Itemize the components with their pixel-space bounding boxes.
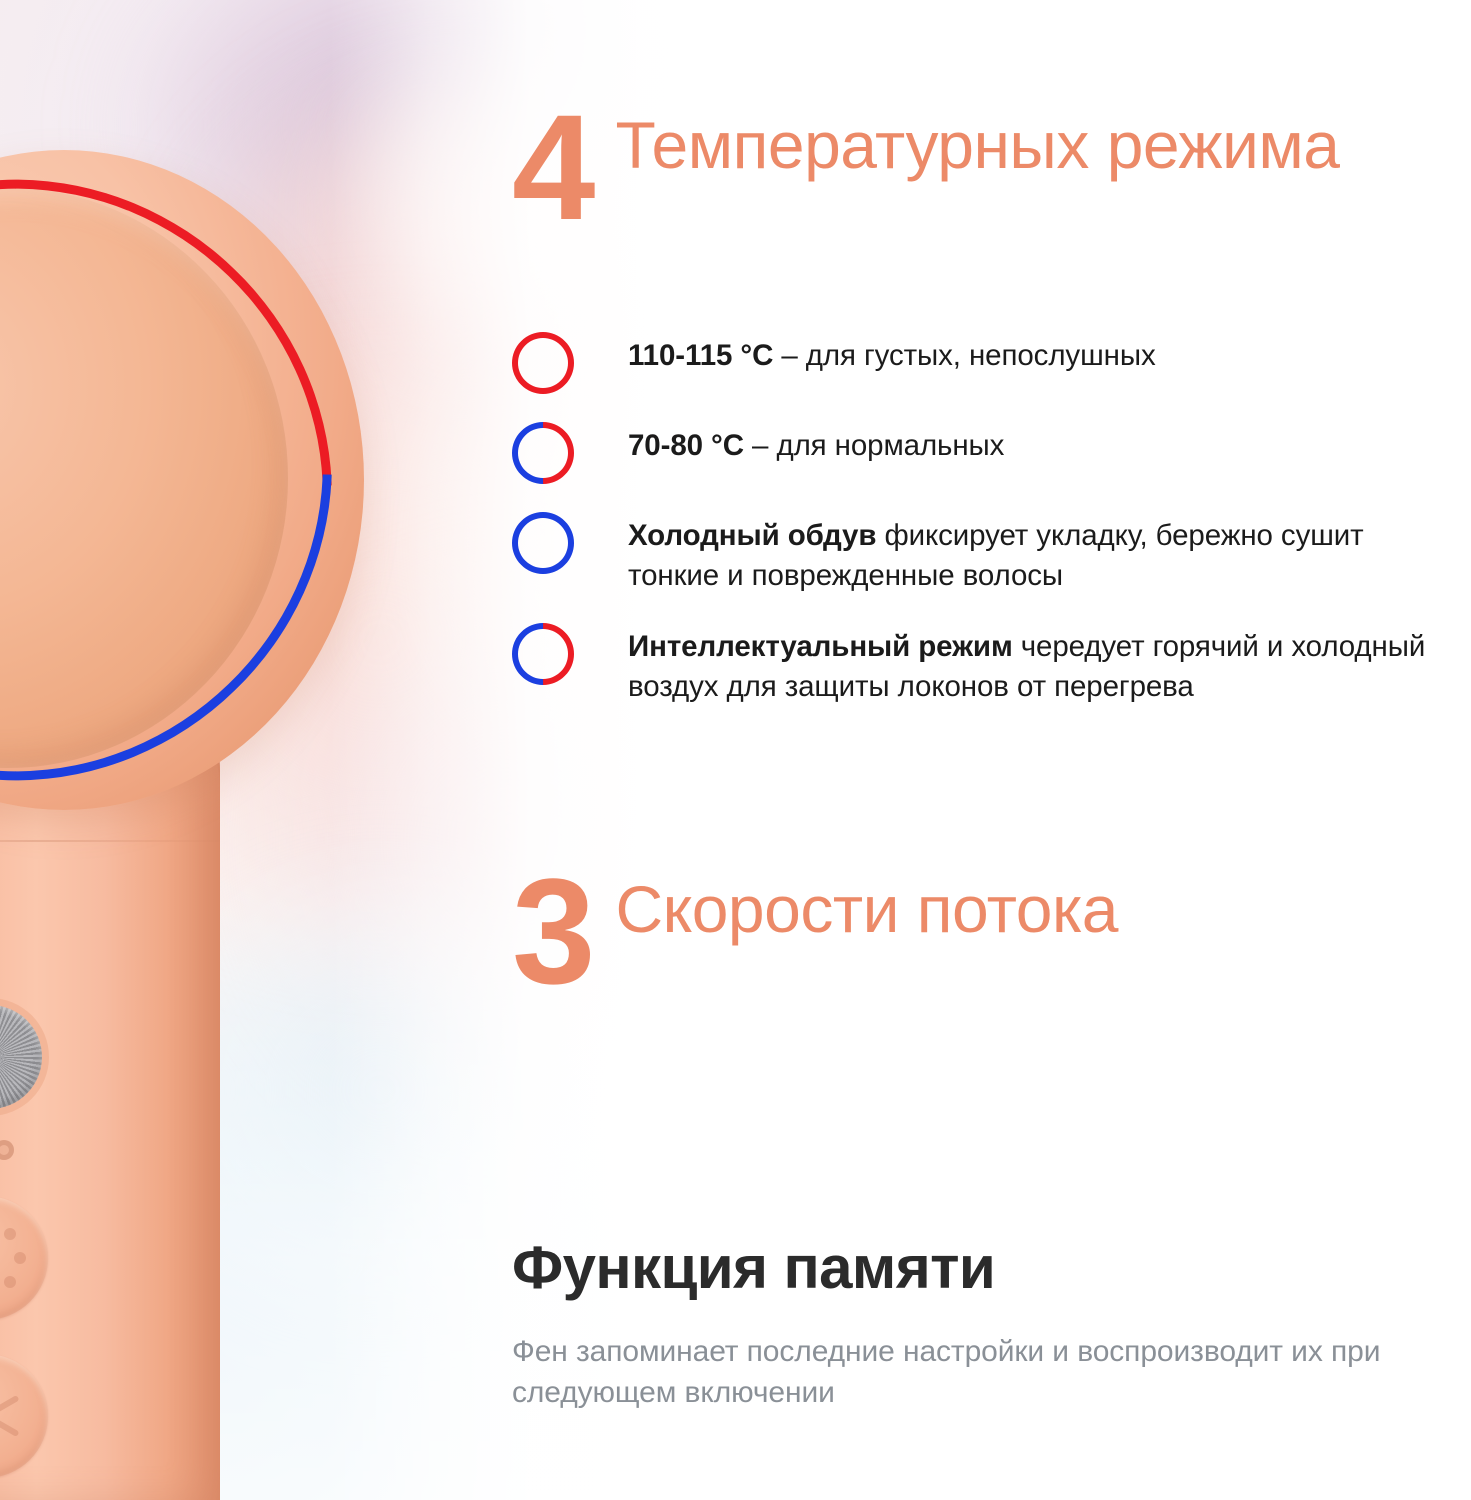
mode-value: Интеллектуальный режим: [628, 630, 1013, 663]
speed-headline: 3 Скорости потока: [512, 868, 1118, 1000]
speed-headline-text: Скорости потока: [615, 868, 1118, 943]
memory-function-block: Функция памяти Фен запоминает последние …: [512, 1236, 1462, 1414]
ring-hot-cool-icon: [512, 422, 574, 484]
memory-title: Функция памяти: [512, 1236, 1462, 1299]
temperature-headline: 4 Температурных режима: [512, 104, 1339, 236]
memory-body: Фен запоминает последние настройки и вос…: [512, 1331, 1462, 1414]
mode-value: 70-80 °C: [628, 429, 744, 462]
mode-detail: – для нормальных: [744, 429, 1004, 462]
mode-detail: – для густых, непослушных: [773, 339, 1155, 372]
ring-hot-icon: [512, 332, 574, 394]
list-item: 70-80 °C – для нормальных: [512, 420, 1462, 484]
infographic-canvas: 4 Температурных режима 110-115 °C – для …: [0, 0, 1471, 1500]
speed-count: 3: [512, 862, 593, 1000]
ring-cool-icon: [512, 512, 574, 574]
list-item: Интеллектуальный режим чередует горячий …: [512, 621, 1462, 706]
content-column: 4 Температурных режима 110-115 °C – для …: [0, 0, 1471, 1500]
mode-description: 70-80 °C – для нормальных: [628, 420, 1004, 466]
ring-smart-icon: [512, 623, 574, 685]
list-item: Холодный обдув фиксирует укладку, бережн…: [512, 510, 1462, 595]
list-item: 110-115 °C – для густых, непослушных: [512, 330, 1462, 394]
mode-value: Холодный обдув: [628, 519, 876, 552]
mode-description: Холодный обдув фиксирует укладку, бережн…: [628, 510, 1462, 595]
mode-value: 110-115 °C: [628, 339, 773, 372]
mode-description: 110-115 °C – для густых, непослушных: [628, 330, 1156, 376]
temperature-headline-text: Температурных режима: [615, 104, 1339, 179]
mode-description: Интеллектуальный режим чередует горячий …: [628, 621, 1462, 706]
temperature-count: 4: [512, 98, 593, 236]
temperature-mode-list: 110-115 °C – для густых, непослушных 70-…: [512, 330, 1462, 732]
